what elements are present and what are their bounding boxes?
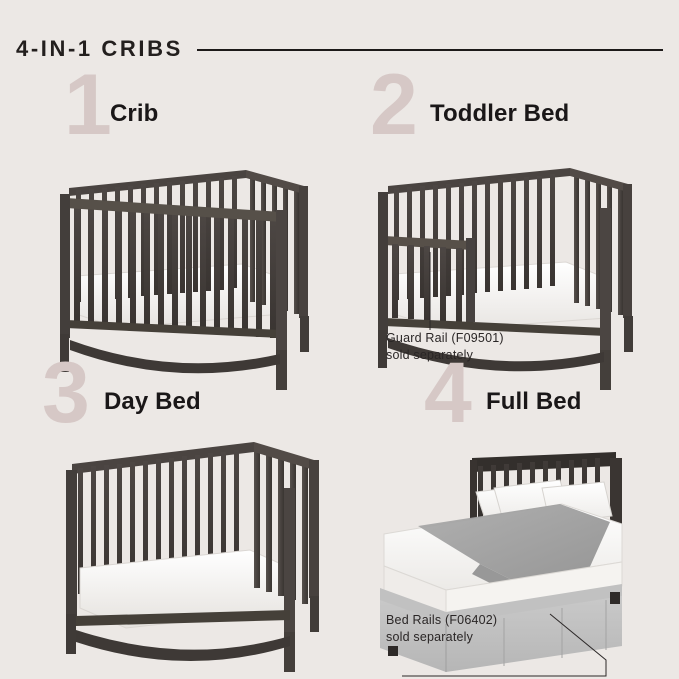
page-header: 4-IN-1 CRIBS bbox=[16, 32, 663, 66]
note-bed-rails: Bed Rails (F06402) sold separately bbox=[386, 612, 497, 646]
step-panel-crib: 1 Crib bbox=[14, 78, 344, 368]
infographic-page: 4-IN-1 CRIBS 1 Crib bbox=[0, 0, 679, 679]
crib-illustration bbox=[14, 78, 344, 368]
header-divider bbox=[197, 49, 663, 51]
crib-body bbox=[60, 170, 309, 390]
day-bed-illustration bbox=[14, 366, 344, 666]
step-panel-day-bed: 3 Day Bed bbox=[14, 366, 344, 666]
toddler-bed-illustration bbox=[354, 78, 674, 368]
day-bed-body bbox=[66, 442, 319, 672]
step-panel-toddler-bed: 2 Toddler Bed bbox=[354, 78, 674, 368]
